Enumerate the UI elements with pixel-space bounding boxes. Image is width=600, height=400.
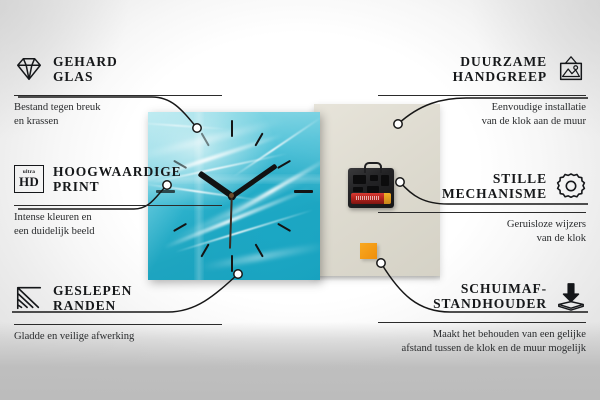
feature-divider: [14, 324, 222, 325]
feature-description: Bestand tegen breuk en krassen: [14, 101, 222, 129]
feature-divider: [378, 95, 586, 96]
feature-description: Gladde en veilige afwerking: [14, 330, 222, 344]
feature-stille-mechanisme: STILLE MECHANISME Geruisloze wijzers van…: [378, 165, 586, 246]
feature-divider: [14, 95, 222, 96]
feature-description: Geruisloze wijzers van de klok: [378, 218, 586, 246]
ultra-hd-icon-large-text: HD: [19, 175, 39, 188]
feature-header: GEHARD GLAS: [14, 48, 222, 90]
clock-center-pin: [229, 193, 234, 198]
feature-header: STILLE MECHANISME: [378, 165, 586, 207]
feature-header: GESLEPEN RANDEN: [14, 277, 222, 319]
feature-schuimafstandhouder: SCHUIMAF- STANDHOUDER Maakt het behouden…: [378, 275, 586, 356]
diamond-icon: [14, 54, 44, 84]
feature-title: GESLEPEN RANDEN: [53, 283, 132, 313]
hanging-picture-icon: [556, 54, 586, 84]
feature-divider: [378, 212, 586, 213]
spacer-arrow-icon: [556, 281, 586, 311]
feature-description: Eenvoudige installatie van de klok aan d…: [378, 101, 586, 129]
clock-tick: [294, 190, 313, 193]
feature-description: Maakt het behouden van een gelijke afsta…: [378, 328, 586, 356]
gear-icon: [556, 171, 586, 201]
feature-title: HOOGWAARDIGE PRINT: [53, 164, 182, 194]
feature-divider: [14, 205, 222, 206]
clock-tick: [231, 255, 233, 272]
beveled-edges-icon: [14, 283, 44, 313]
feature-hoogwaardige-print: ultra HD HOOGWAARDIGE PRINT Intense kleu…: [14, 158, 222, 239]
foam-spacer: [360, 243, 377, 259]
feature-gehard-glas: GEHARD GLAS Bestand tegen breuk en krass…: [14, 48, 222, 129]
feature-header: SCHUIMAF- STANDHOUDER: [378, 275, 586, 317]
feature-duurzame-handgreep: DUURZAME HANDGREEP Eenvoudige installati…: [378, 48, 586, 129]
ultra-hd-icon: ultra HD: [14, 165, 44, 193]
feature-divider: [378, 322, 586, 323]
clock-tick: [231, 120, 233, 137]
feature-title: DUURZAME HANDGREEP: [453, 54, 547, 84]
feature-title: SCHUIMAF- STANDHOUDER: [433, 281, 547, 311]
feature-title: STILLE MECHANISME: [442, 171, 547, 201]
feature-header: DUURZAME HANDGREEP: [378, 48, 586, 90]
feature-header: ultra HD HOOGWAARDIGE PRINT: [14, 158, 222, 200]
product-infographic: GEHARD GLAS Bestand tegen breuk en krass…: [0, 0, 600, 400]
feature-geslepen-randen: GESLEPEN RANDEN Gladde en veilige afwerk…: [14, 277, 222, 344]
feature-description: Intense kleuren en een duidelijk beeld: [14, 211, 222, 239]
feature-title: GEHARD GLAS: [53, 54, 118, 84]
